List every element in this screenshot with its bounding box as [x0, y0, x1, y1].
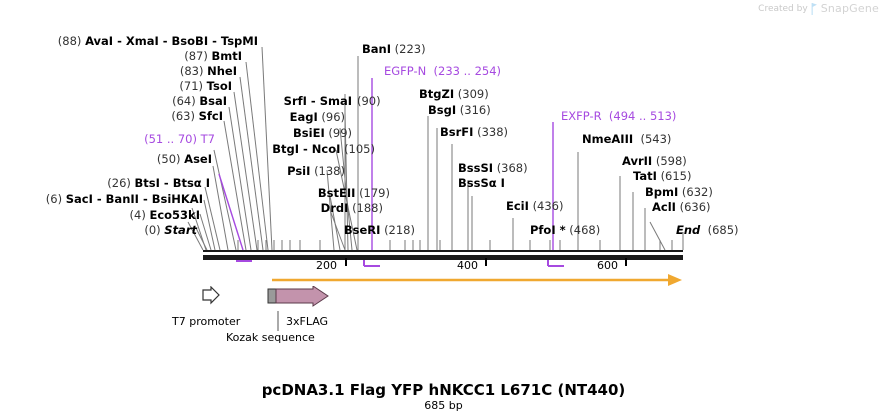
label-btgi-ncoi[interactable]: BtgI - NcoI (105): [200, 143, 375, 155]
feature-label-3xflag[interactable]: 3xFLAG: [286, 315, 328, 328]
feature-label-kozak[interactable]: Kozak sequence: [226, 331, 315, 344]
label-position: (138): [314, 164, 345, 178]
label-btsi-group[interactable]: (26) BtsI - Btsα I: [12, 177, 210, 189]
ruler-tick-400: [485, 258, 487, 266]
label-eco53ki[interactable]: (4) Eco53kI: [12, 209, 200, 221]
ruler-tick-600: [625, 258, 627, 266]
label-position: (436): [533, 199, 564, 213]
label-name: BssSα I: [458, 176, 505, 190]
label-bani[interactable]: BanI (223): [362, 43, 426, 55]
label-ecii[interactable]: EciI (436): [506, 200, 564, 212]
label-name: SacI - BanII - BsiHKAI: [66, 192, 203, 206]
label-nhei[interactable]: (83) NheI: [12, 65, 237, 77]
label-name: NmeAIII: [582, 132, 633, 146]
label-name: AclI: [652, 200, 676, 214]
label-position: (0): [144, 223, 160, 237]
label-btgzi[interactable]: BtgZI (309): [419, 88, 489, 100]
ruler-label-600: 600: [597, 259, 618, 272]
label-name: PsiI: [287, 164, 310, 178]
label-position: (83): [180, 64, 204, 78]
label-position: (494 .. 513): [609, 109, 677, 123]
label-avrii[interactable]: AvrII (598): [622, 155, 687, 167]
ruler-label-200: 200: [316, 259, 337, 272]
label-name: TatI: [633, 169, 657, 183]
t7-promoter-arrow: [203, 287, 219, 303]
label-acli[interactable]: AclI (636): [652, 201, 711, 213]
label-position: (63): [171, 109, 195, 123]
label-bpmi[interactable]: BpmI (632): [645, 186, 713, 198]
label-name: BmtI: [211, 49, 242, 63]
label-position: (26): [107, 176, 131, 190]
label-name: TsoI: [207, 79, 232, 93]
label-srfi-position: (90): [357, 95, 381, 107]
label-sfci[interactable]: (63) SfcI: [12, 110, 223, 122]
ruler-tick-200: [345, 258, 347, 266]
label-name: PfoI *: [530, 223, 566, 237]
label-position: (99): [328, 126, 352, 140]
label-position: (338): [477, 125, 508, 139]
label-name: BtgZI: [419, 87, 454, 101]
page-title: pcDNA3.1 Flag YFP hNKCC1 L671C (NT440): [0, 381, 887, 399]
label-position: (4): [130, 208, 146, 222]
label-psii[interactable]: PsiI (138): [200, 165, 345, 177]
feature-glyphs[interactable]: [200, 286, 340, 316]
label-avai-group[interactable]: (88) AvaI - XmaI - BsoBI - TspMI: [12, 35, 258, 47]
label-position: (615): [661, 169, 692, 183]
label-position: (6): [46, 192, 62, 206]
label-name: BpmI: [645, 185, 678, 199]
label-name: BsgI: [428, 103, 456, 117]
label-position: (598): [656, 154, 687, 168]
label-position: (468): [569, 223, 600, 237]
label-bsai[interactable]: (64) BsaI: [12, 95, 227, 107]
label-start[interactable]: (0) Start: [12, 224, 197, 236]
label-position: (51 .. 70): [144, 132, 197, 146]
label-bsteii[interactable]: BstEII (179): [220, 187, 390, 199]
label-name: EXFP-R: [561, 109, 602, 123]
label-t7-feature[interactable]: (51 .. 70) T7: [12, 133, 215, 145]
label-position: (87): [184, 49, 208, 63]
label-position: (71): [179, 79, 203, 93]
label-bsssi[interactable]: BssSI (368): [458, 162, 528, 174]
label-egfp-n[interactable]: EGFP-N (233 .. 254): [384, 65, 501, 77]
label-position: (105): [344, 142, 375, 156]
backbone-line-top: [203, 250, 683, 252]
label-name: BsiEI: [293, 126, 325, 140]
label-name: EagI: [290, 110, 318, 124]
label-saci-group[interactable]: (6) SacI - BanII - BsiHKAI: [2, 193, 203, 205]
label-name: BssSI: [458, 161, 493, 175]
feature-label-t7-promoter[interactable]: T7 promoter: [172, 315, 240, 328]
label-name: AvaI - XmaI - BsoBI - TspMI: [85, 34, 258, 48]
label-position: (218): [384, 223, 415, 237]
label-position: (90): [357, 94, 381, 108]
label-srfi-group[interactable]: SrfI - SmaI: [200, 95, 352, 107]
label-name: EciI: [506, 199, 529, 213]
label-name: AvrII: [622, 154, 652, 168]
label-position: (543): [640, 132, 671, 146]
label-exfp-r[interactable]: EXFP-R (494 .. 513): [561, 110, 676, 122]
label-name: BsrFI: [440, 125, 473, 139]
label-position: (636): [680, 200, 711, 214]
label-name: BtsI - Btsα I: [135, 176, 210, 190]
label-position: (96): [321, 110, 345, 124]
label-bsssai[interactable]: BssSα I: [458, 177, 505, 189]
label-bseri[interactable]: BseRI (218): [250, 224, 415, 236]
kozak-leader-icon: [272, 311, 286, 335]
label-eagi[interactable]: EagI (96): [200, 111, 345, 123]
label-name: SrfI - SmaI: [284, 94, 352, 108]
label-position: (188): [352, 201, 383, 215]
label-name: End: [676, 223, 700, 237]
label-name: BseRI: [344, 223, 381, 237]
label-name: NheI: [207, 64, 237, 78]
label-position: (685): [708, 223, 739, 237]
label-bmti[interactable]: (87) BmtI: [12, 50, 242, 62]
label-nmeaiii[interactable]: NmeAIII (543): [582, 133, 671, 145]
ruler-label-400: 400: [457, 259, 478, 272]
label-bsrfi[interactable]: BsrFI (338): [440, 126, 508, 138]
label-name: DrdI: [321, 201, 349, 215]
label-bsiei[interactable]: BsiEI (99): [200, 127, 352, 139]
label-tati[interactable]: TatI (615): [633, 170, 692, 182]
label-name: BanI: [362, 42, 391, 56]
label-position: (179): [359, 186, 390, 200]
label-name: EGFP-N: [384, 64, 426, 78]
label-position: (233 .. 254): [434, 64, 502, 78]
label-position: (368): [497, 161, 528, 175]
label-position: (223): [395, 42, 426, 56]
flag-cds-arrow: [276, 286, 328, 306]
label-position: (64): [172, 94, 196, 108]
label-position: (316): [460, 103, 491, 117]
label-bsgi[interactable]: BsgI (316): [428, 104, 491, 116]
label-position: (632): [682, 185, 713, 199]
label-end[interactable]: End (685): [676, 224, 739, 236]
label-position: (50): [157, 152, 181, 166]
label-asei[interactable]: (50) AseI: [12, 153, 212, 165]
label-position: (88): [58, 34, 82, 48]
plasmid-map: Created by SnapGene: [0, 0, 887, 420]
label-position: (309): [458, 87, 489, 101]
label-name: BtgI - NcoI: [272, 142, 340, 156]
sequence-length-label: 685 bp: [0, 399, 887, 412]
label-name: Eco53kI: [149, 208, 200, 222]
label-drdi[interactable]: DrdI (188): [220, 202, 383, 214]
kozak-block: [268, 289, 276, 303]
label-tsoi[interactable]: (71) TsoI: [12, 80, 232, 92]
label-name: Start: [164, 223, 197, 237]
label-name: BstEII: [318, 186, 356, 200]
label-pfoi[interactable]: PfoI * (468): [530, 224, 600, 236]
